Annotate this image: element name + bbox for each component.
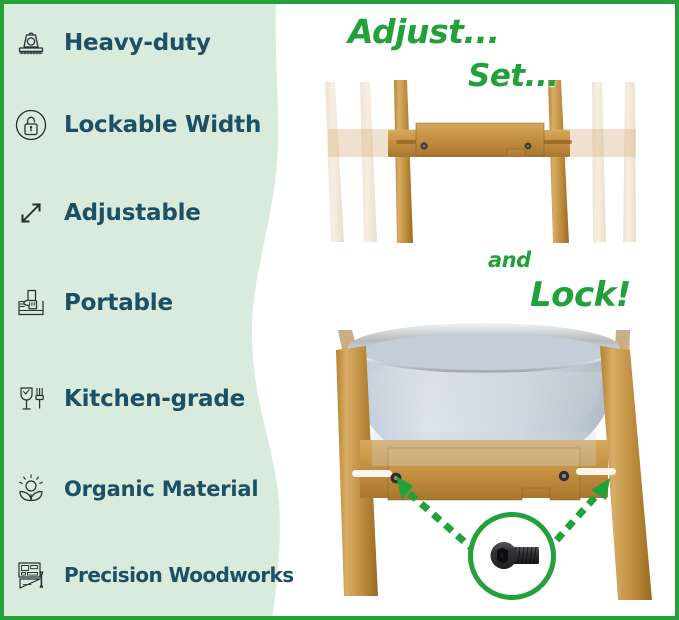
weight-scale-icon [8, 20, 54, 66]
feature-item-organic-material: Organic Material [8, 458, 300, 520]
feature-item-precision-woodworks: Precision Woodworks [8, 544, 300, 606]
infographic-canvas: Heavy-duty Lockable Width [0, 0, 679, 620]
feature-label: Organic Material [64, 479, 258, 500]
feature-label: Heavy-duty [64, 32, 211, 55]
blueprint-ruler-pen-icon [8, 552, 54, 598]
feature-item-portable: Portable [8, 272, 300, 334]
feature-item-adjustable: Adjustable [8, 182, 300, 244]
feature-label: Kitchen-grade [64, 388, 245, 411]
feature-label: Portable [64, 292, 173, 315]
diagonal-resize-arrow-icon [8, 190, 54, 236]
feature-item-lockable-width: Lockable Width [8, 94, 300, 156]
caption-and: and [488, 248, 531, 272]
caption-adjust: Adjust... [348, 12, 499, 51]
feature-item-heavy-duty: Heavy-duty [8, 12, 300, 74]
feature-label: Adjustable [64, 202, 201, 225]
adjustable-frame-illustration [325, 80, 636, 243]
feature-list: Heavy-duty Lockable Width [0, 0, 300, 620]
dashed-arrow-left [396, 476, 476, 552]
feature-label: Precision Woodworks [64, 565, 294, 585]
open-padlock-circle-icon [8, 102, 54, 148]
glass-fork-food-safe-icon [8, 376, 54, 422]
hex-socket-bolt-icon [478, 536, 548, 576]
feature-label: Lockable Width [64, 114, 261, 137]
caption-set: Set... [468, 58, 559, 94]
hand-lifting-box-icon [8, 280, 54, 326]
hex-socket-bolt-callout [468, 512, 556, 600]
feature-item-kitchen-grade: Kitchen-grade [8, 368, 300, 430]
caption-lock: Lock! [530, 275, 631, 315]
sun-over-leaves-icon [8, 466, 54, 512]
